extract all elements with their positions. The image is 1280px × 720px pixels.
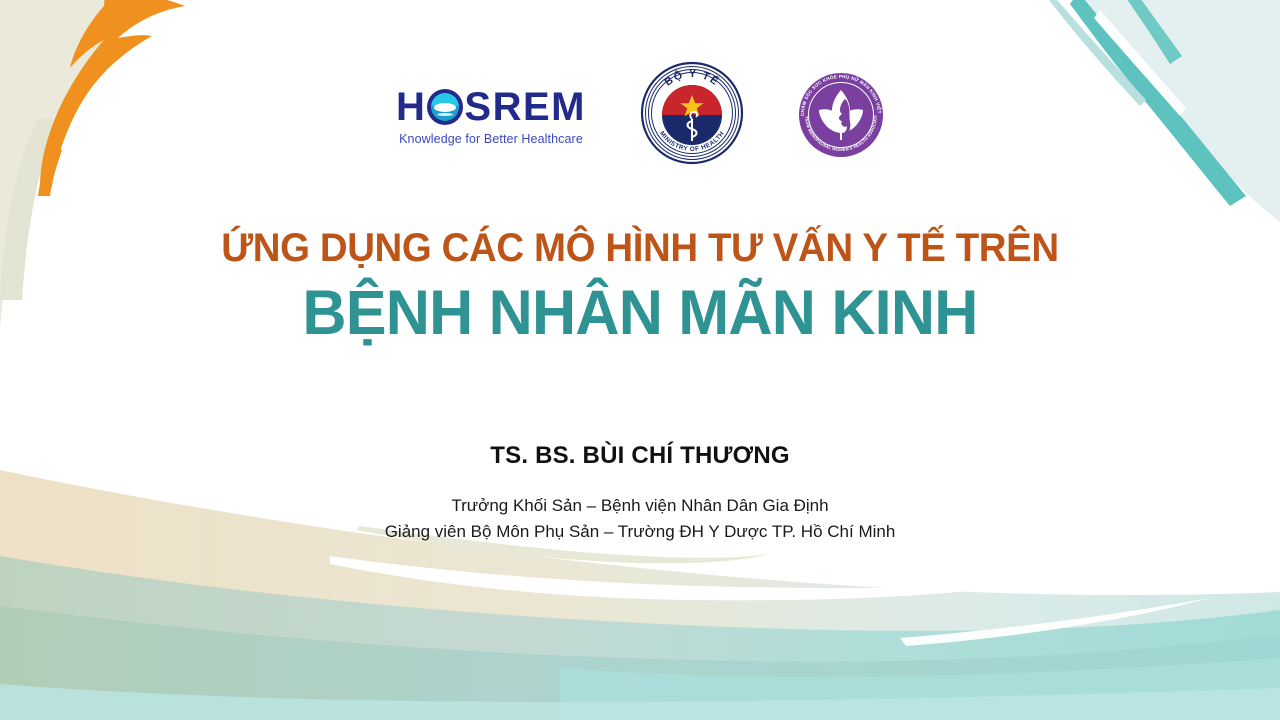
presenter-block: TS. BS. BÙI CHÍ THƯƠNG Trưởng Khối Sản –… [0, 442, 1280, 545]
hosrem-logo: H SREM Knowledge for Better Healthcare [396, 87, 586, 146]
hosrem-letters-srem: SREM [464, 87, 586, 127]
wave-sage-mid [0, 556, 1280, 720]
hosrem-letter-h: H [396, 87, 426, 127]
hosrem-wordmark: H SREM [396, 87, 586, 127]
top-right-teal-brush-2 [1126, 0, 1182, 64]
presenter-affiliation-2: Giảng viên Bộ Môn Phụ Sản – Trường ĐH Y … [0, 519, 1280, 545]
ministry-of-health-emblem: BỘ Y TẾ MINISTRY OF HEALTH [640, 61, 744, 165]
page-title-line-2: BỆNH NHÂN MÃN KINH [19, 276, 1261, 350]
wave-teal-lower [560, 658, 1280, 720]
wave-white-streak [900, 598, 1210, 646]
title-slide: H SREM Knowledge for Better Healthcare [0, 0, 1280, 720]
wave-sage-deep [0, 606, 1280, 720]
lotus-stem [840, 133, 842, 140]
vmwha-emblem: HỘI CHĂM SÓC SỨC KHỎE PHỤ NỮ MÃN KINH VI… [798, 72, 884, 158]
presenter-affiliation-1: Trưởng Khối Sản – Bệnh viện Nhân Dân Gia… [0, 493, 1280, 519]
logo-row: H SREM Knowledge for Better Healthcare [0, 58, 1280, 168]
wave-teal-lowest [0, 684, 1280, 720]
title-block: ỨNG DỤNG CÁC MÔ HÌNH TƯ VẤN Y TẾ TRÊN BỆ… [0, 225, 1280, 351]
page-title-line-1: ỨNG DỤNG CÁC MÔ HÌNH TƯ VẤN Y TẾ TRÊN [26, 225, 1255, 272]
globe-wave-icon [427, 89, 463, 125]
wave-white-highlight [330, 556, 1060, 600]
presenter-name: TS. BS. BÙI CHÍ THƯƠNG [0, 442, 1280, 471]
hosrem-tagline: Knowledge for Better Healthcare [399, 132, 583, 146]
